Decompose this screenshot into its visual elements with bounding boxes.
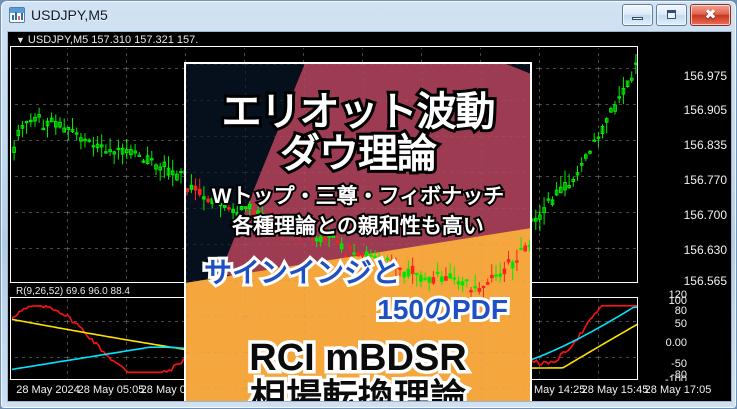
promo-product-1: RCI mBDSR <box>186 339 530 377</box>
indicator-tick: 80 <box>675 305 687 317</box>
promo-headline-2: ダウ理論 <box>186 134 530 174</box>
chevron-down-icon[interactable]: ▼ <box>16 35 25 45</box>
promo-headline-1: エリオット波動 <box>186 92 530 132</box>
minimize-icon <box>632 17 643 20</box>
window-controls: ✖ <box>622 4 731 26</box>
minimize-button[interactable] <box>622 4 653 26</box>
chart-window: USDJPY,M5 ✖ <box>0 0 737 409</box>
title-bar[interactable]: USDJPY,M5 ✖ <box>1 1 736 29</box>
price-tick: 156.770 <box>684 173 727 187</box>
chart-document-icon <box>9 7 25 23</box>
promo-blue-1: サインインジと <box>186 259 530 287</box>
price-axis[interactable]: 156.975 156.905 156.835 156.770 156.700 … <box>639 32 731 285</box>
price-tick: 156.975 <box>684 69 727 83</box>
chart-canvas[interactable]: ▼USDJPY,M5 157.310 157.321 157. 156.975 … <box>7 31 732 402</box>
symbol-period-label: ▼USDJPY,M5 157.310 157.321 157. <box>16 34 198 46</box>
time-tick: 28 May 2024 <box>16 384 80 396</box>
maximize-button[interactable] <box>656 4 687 26</box>
indicator-tick: 0.00 <box>666 337 687 349</box>
time-tick: 28 May 15:45 <box>582 384 649 396</box>
close-icon: ✖ <box>691 5 730 25</box>
window-title: USDJPY,M5 <box>31 5 108 25</box>
price-tick: 156.905 <box>684 103 727 117</box>
promo-sub-1: Wトップ・三尊・フィボナッチ <box>186 186 530 207</box>
price-tick: 156.700 <box>684 208 727 222</box>
price-tick: 156.630 <box>684 243 727 257</box>
rci-indicator-label: R(9,26,52) 69.6 96.0 88.4 <box>16 286 130 297</box>
close-button[interactable]: ✖ <box>690 4 731 26</box>
promo-text-block: エリオット波動 ダウ理論 Wトップ・三尊・フィボナッチ 各種理論との親和性も高い… <box>186 64 530 402</box>
time-tick: 28 May 05:05 <box>78 384 145 396</box>
indicator-axis[interactable]: 120 100 80 50 0.00 -50 -80 -100 <box>639 285 731 381</box>
promo-sub-2: 各種理論との親和性も高い <box>186 216 530 237</box>
maximize-icon <box>667 10 676 19</box>
promo-overlay: エリオット波動 ダウ理論 Wトップ・三尊・フィボナッチ 各種理論との親和性も高い… <box>184 62 532 402</box>
time-tick: 28 May 17:05 <box>645 384 712 396</box>
indicator-tick: 50 <box>675 318 687 330</box>
promo-product-2: 相場転換理論 <box>186 379 530 402</box>
promo-blue-2: 150のPDF <box>186 296 530 324</box>
price-tick: 156.835 <box>684 138 727 152</box>
